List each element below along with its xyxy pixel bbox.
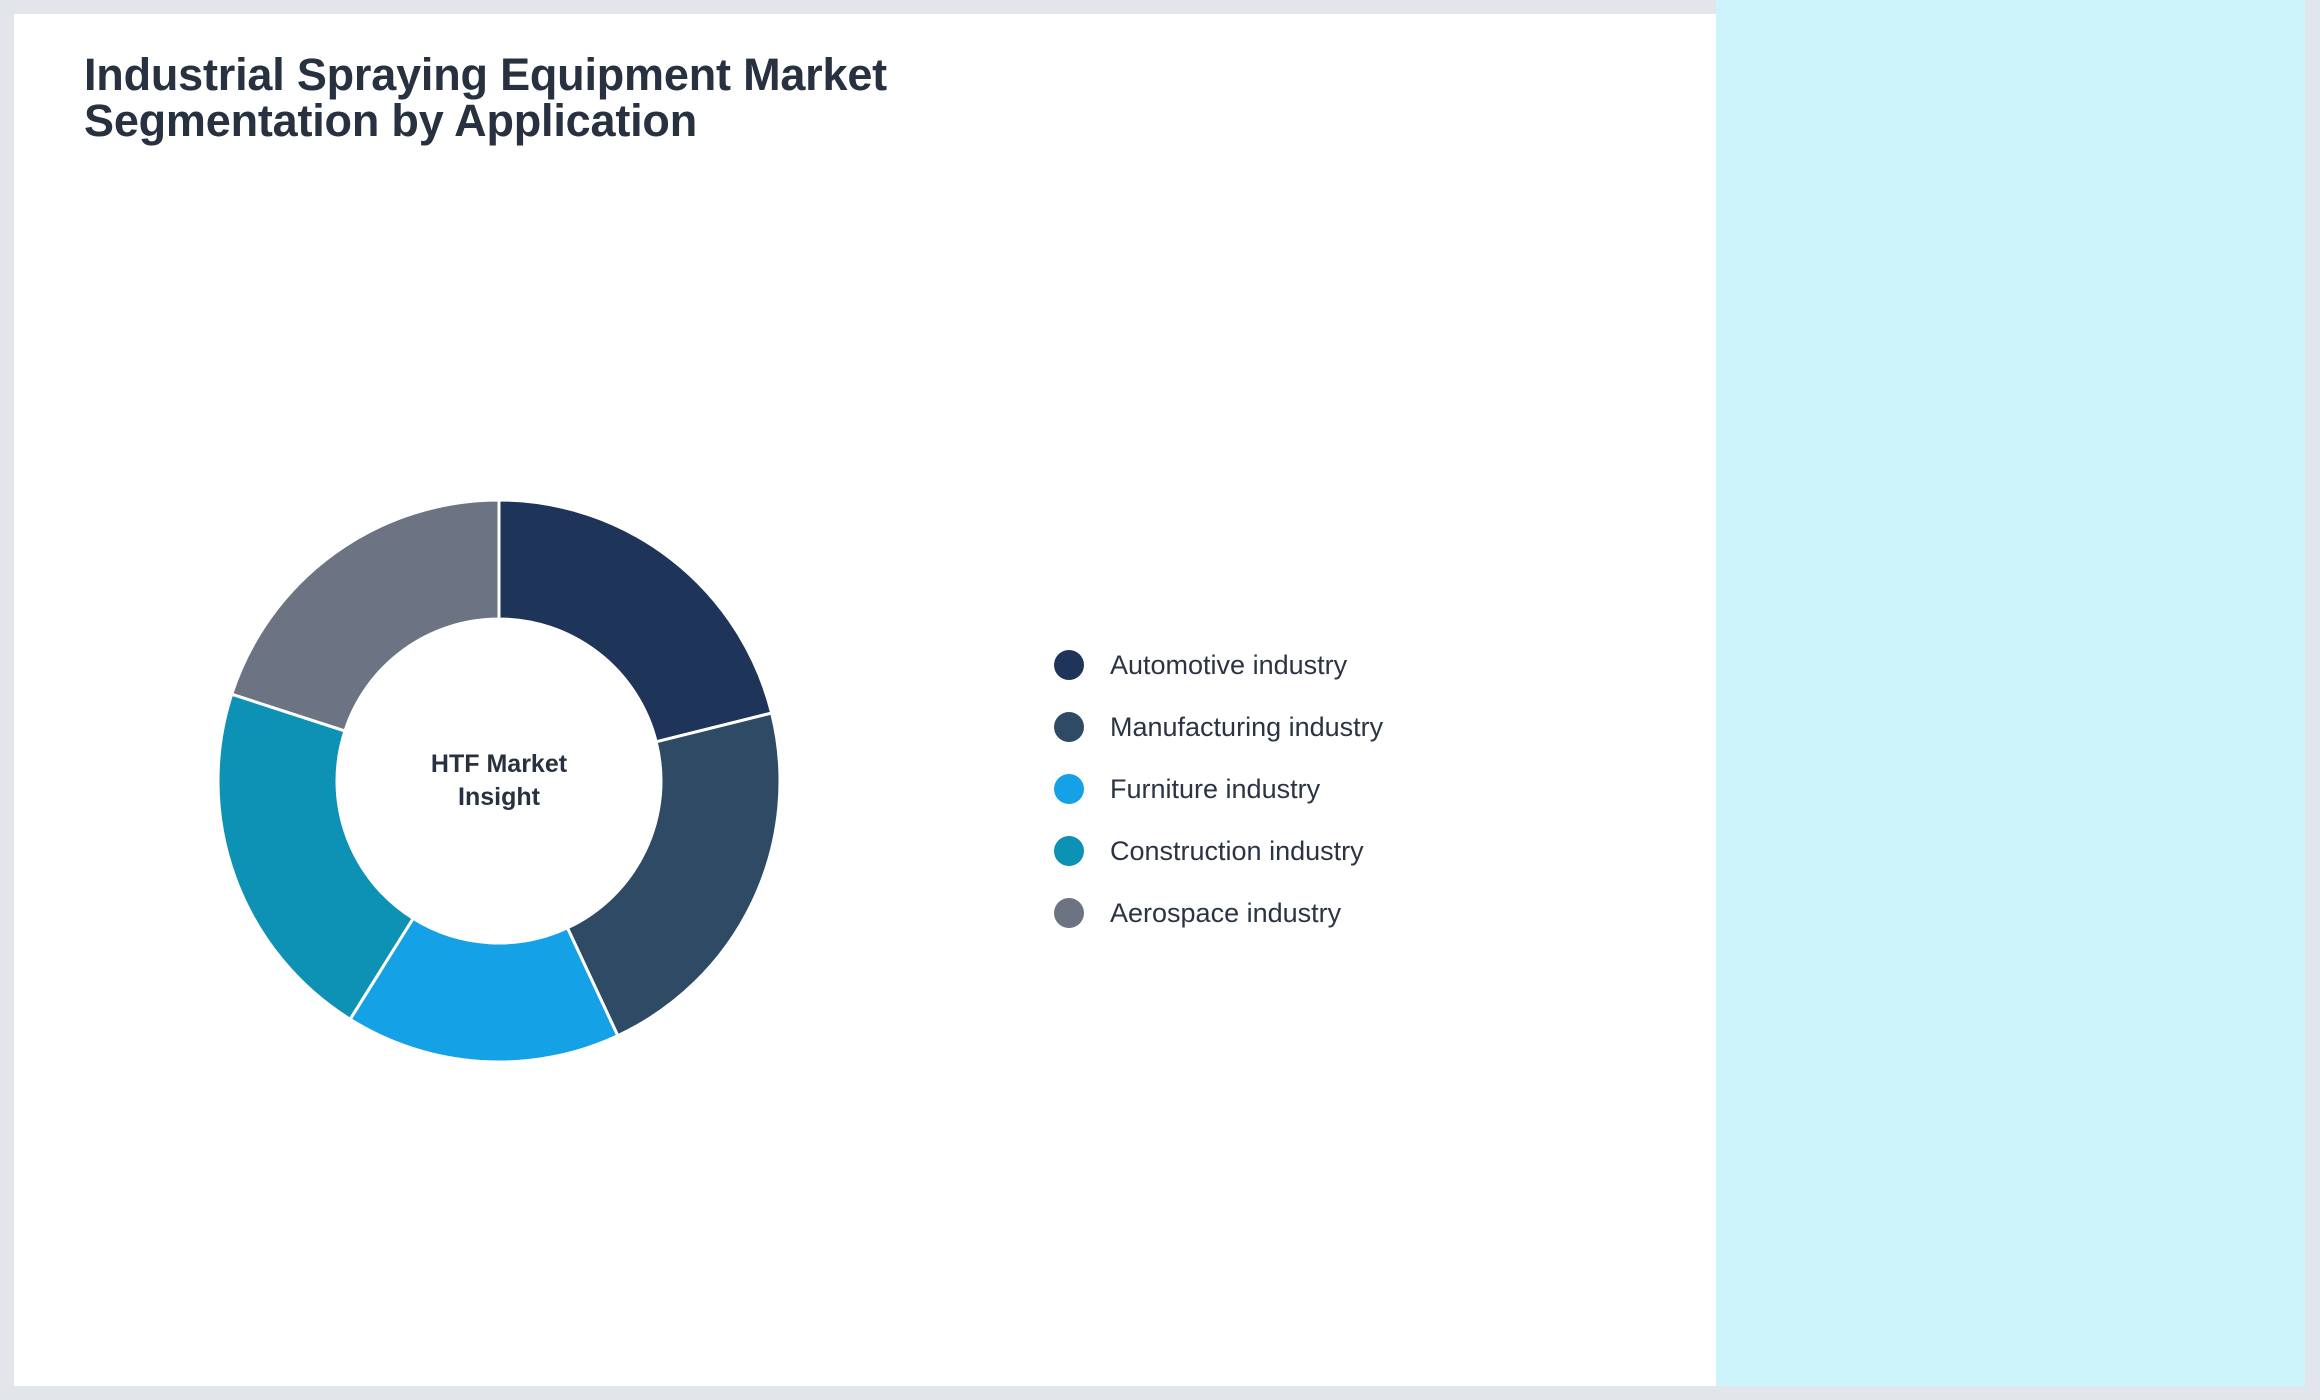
side-panel: HTF Market Intelligence 3.0 billion Glob…	[1716, 0, 2305, 1386]
legend-swatch-icon	[1054, 712, 1084, 742]
donut-chart: HTF Market Insight	[218, 500, 780, 1062]
legend-item-label: Automotive industry	[1110, 650, 1347, 681]
legend-item-label: Furniture industry	[1110, 774, 1320, 805]
legend-item-construction[interactable]: Construction industry	[1054, 820, 1383, 882]
main-content-card: Industrial Spraying Equipment Market Seg…	[14, 14, 1716, 1386]
legend-item-aerospace[interactable]: Aerospace industry	[1054, 882, 1383, 944]
donut-slice[interactable]	[567, 713, 780, 1036]
legend-swatch-icon	[1054, 898, 1084, 928]
legend-item-automotive[interactable]: Automotive industry	[1054, 634, 1383, 696]
legend-item-manufacturing[interactable]: Manufacturing industry	[1054, 696, 1383, 758]
infographic-root: Industrial Spraying Equipment Market Seg…	[0, 0, 2320, 1400]
legend-item-label: Aerospace industry	[1110, 898, 1341, 929]
donut-slice-group	[218, 500, 780, 1062]
legend-swatch-icon	[1054, 774, 1084, 804]
donut-slice[interactable]	[499, 500, 772, 742]
legend-item-label: Construction industry	[1110, 836, 1364, 867]
legend-swatch-icon	[1054, 836, 1084, 866]
page-title: Industrial Spraying Equipment Market Seg…	[84, 52, 984, 144]
chart-legend: Automotive industry Manufacturing indust…	[1054, 634, 1383, 944]
legend-item-furniture[interactable]: Furniture industry	[1054, 758, 1383, 820]
donut-chart-svg	[218, 500, 780, 1062]
legend-swatch-icon	[1054, 650, 1084, 680]
legend-item-label: Manufacturing industry	[1110, 712, 1383, 743]
donut-slice[interactable]	[232, 500, 499, 731]
